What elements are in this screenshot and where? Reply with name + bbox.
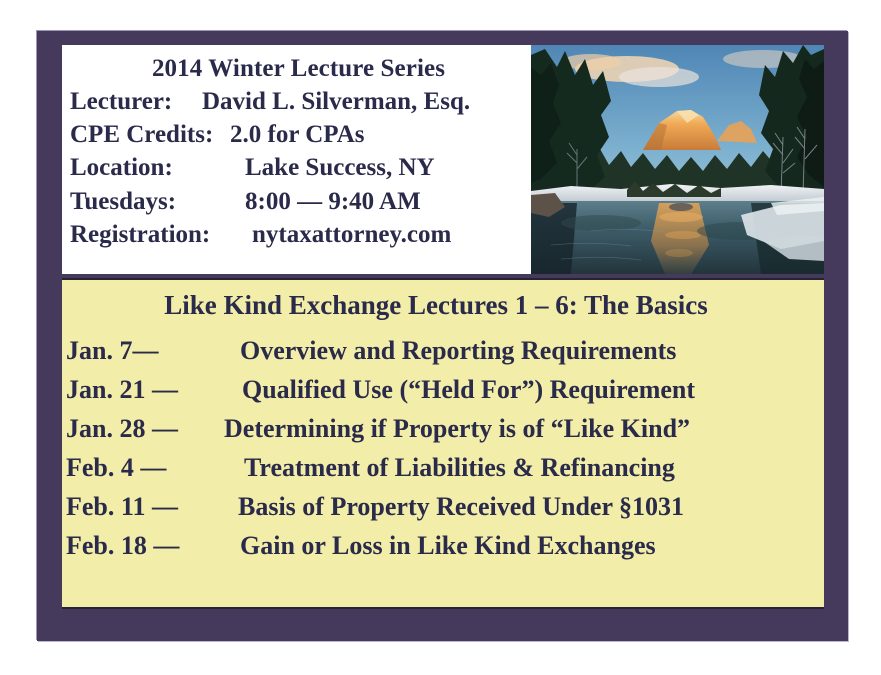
lecture-series-title: Like Kind Exchange Lectures 1 – 6: The B…	[62, 284, 824, 325]
info-row-lecturer: Lecturer: David L. Silverman, Esq.	[62, 85, 531, 118]
lecture-date: Feb. 11 —	[66, 494, 238, 520]
yosemite-winter-photo	[531, 45, 824, 274]
lecture-subject: Determining if Property is of “Like Kind…	[224, 416, 690, 442]
lecture-subject: Gain or Loss in Like Kind Exchanges	[240, 533, 656, 559]
info-value-location: Lake Success, NY	[245, 151, 435, 184]
lecture-row: Feb. 18 — Gain or Loss in Like Kind Exch…	[62, 533, 824, 559]
info-row-tuesdays: Tuesdays: 8:00 — 9:40 AM	[62, 185, 531, 218]
lecture-row: Jan. 7— Overview and Reporting Requireme…	[62, 338, 824, 364]
info-label-registration: Registration:	[70, 218, 252, 251]
lecture-subject: Qualified Use (“Held For”) Requirement	[242, 377, 695, 403]
lecture-date: Feb. 18 —	[66, 533, 240, 559]
lecture-date: Jan. 7—	[66, 338, 240, 364]
info-value-registration: nytaxattorney.com	[252, 218, 451, 251]
lecture-row: Feb. 4 — Treatment of Liabilities & Refi…	[62, 455, 824, 481]
info-row-location: Location: Lake Success, NY	[62, 151, 531, 184]
lecture-subject: Treatment of Liabilities & Refinancing	[244, 455, 675, 481]
lecture-row: Jan. 28 — Determining if Property is of …	[62, 416, 824, 442]
lecture-subject: Overview and Reporting Requirements	[240, 338, 676, 364]
lecture-date: Jan. 28 —	[66, 416, 224, 442]
lecture-info-panel: 2014 Winter Lecture Series Lecturer: Dav…	[62, 45, 531, 274]
info-label-tuesdays: Tuesdays:	[70, 185, 245, 218]
lecture-schedule-panel: Like Kind Exchange Lectures 1 – 6: The B…	[62, 278, 824, 609]
info-value-lecturer: David L. Silverman, Esq.	[202, 85, 470, 118]
info-label-location: Location:	[70, 151, 245, 184]
lecture-row: Feb. 11 — Basis of Property Received Und…	[62, 494, 824, 520]
lecture-row: Jan. 21 — Qualified Use (“Held For”) Req…	[62, 377, 824, 403]
info-label-cpe-credits: CPE Credits:	[70, 118, 230, 151]
lecture-subject: Basis of Property Received Under §1031	[238, 494, 684, 520]
page-title: 2014 Winter Lecture Series	[62, 54, 531, 85]
info-value-cpe-credits: 2.0 for CPAs	[230, 118, 364, 151]
poster-frame: 2014 Winter Lecture Series Lecturer: Dav…	[37, 31, 848, 641]
header-section: 2014 Winter Lecture Series Lecturer: Dav…	[62, 45, 824, 274]
lecture-date: Jan. 21 —	[66, 377, 242, 403]
info-value-tuesdays: 8:00 — 9:40 AM	[245, 185, 421, 218]
info-row-cpe-credits: CPE Credits: 2.0 for CPAs	[62, 118, 531, 151]
lecture-date: Feb. 4 —	[66, 455, 244, 481]
info-label-lecturer: Lecturer:	[70, 85, 202, 118]
info-row-registration: Registration: nytaxattorney.com	[62, 218, 531, 251]
